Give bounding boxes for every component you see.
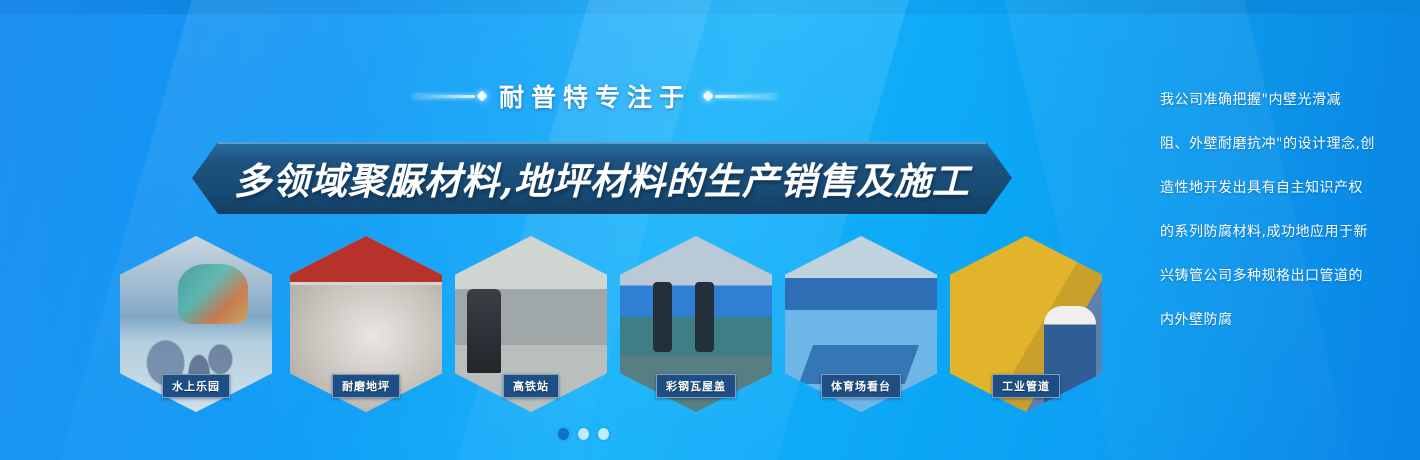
headline-banner: 多领域聚脲材料,地坪材料的生产销售及施工 [192, 142, 1012, 214]
hex-card-label: 彩钢瓦屋盖 [656, 374, 736, 398]
carousel-dot-2[interactable] [578, 428, 589, 440]
dot-with-line-icon [701, 92, 777, 100]
hex-card-wear-resistant-floor[interactable]: 耐磨地坪 [290, 236, 442, 412]
headline-text: 多领域聚脲材料,地坪材料的生产销售及施工 [192, 142, 1012, 214]
carousel-dot-1[interactable] [558, 428, 569, 440]
hex-card-stadium-stand[interactable]: 体育场看台 [785, 236, 937, 412]
paragraph-line: 的系列防腐材料,成功地应用于新 [1160, 210, 1390, 254]
promo-banner: 耐普特专注于 多领域聚脲材料,地坪材料的生产销售及施工 水上乐园 耐磨地坪 高 [0, 0, 1420, 460]
paragraph-line: 兴铸管公司多种规格出口管道的 [1160, 254, 1390, 298]
paragraph-line: 我公司准确把握"内壁光滑减 [1160, 78, 1390, 122]
subtitle-row: 耐普特专注于 [360, 78, 830, 114]
paragraph-line: 内外壁防腐 [1160, 298, 1390, 342]
paragraph-line: 造性地开发出具有自主知识产权 [1160, 166, 1390, 210]
carousel-dots [558, 428, 609, 440]
hex-card-water-park[interactable]: 水上乐园 [120, 236, 272, 412]
hex-card-color-steel-tile-roof[interactable]: 彩钢瓦屋盖 [620, 236, 772, 412]
top-gradient-band [0, 0, 1420, 14]
hex-card-label: 高铁站 [503, 374, 559, 398]
line-with-dot-icon [413, 92, 489, 100]
description-paragraph: 我公司准确把握"内壁光滑减 阻、外壁耐磨抗冲"的设计理念,创 造性地开发出具有自… [1160, 78, 1390, 342]
carousel-dot-3[interactable] [598, 428, 609, 440]
hex-card-label: 水上乐园 [162, 374, 230, 398]
subtitle-text: 耐普特专注于 [499, 78, 691, 114]
hexagon-card-row: 水上乐园 耐磨地坪 高铁站 彩钢瓦屋盖 体育场看台 [0, 236, 1130, 416]
hex-card-label: 耐磨地坪 [332, 374, 400, 398]
paragraph-line: 阻、外壁耐磨抗冲"的设计理念,创 [1160, 122, 1390, 166]
hex-card-label: 工业管道 [992, 374, 1060, 398]
hex-card-industrial-pipeline[interactable]: 工业管道 [950, 236, 1102, 412]
hex-card-label: 体育场看台 [821, 374, 901, 398]
hex-card-high-speed-rail-station[interactable]: 高铁站 [455, 236, 607, 412]
